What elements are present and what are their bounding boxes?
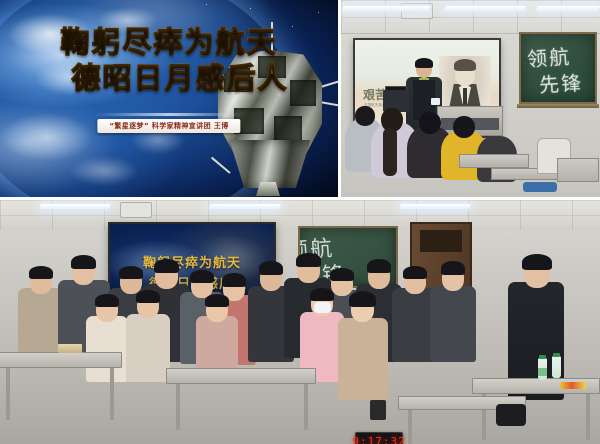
person-hair	[29, 266, 53, 279]
tube-light	[536, 6, 600, 11]
tube-light	[342, 6, 430, 11]
portrait-hair	[454, 59, 476, 71]
person-hair	[222, 273, 246, 287]
person-hair	[95, 294, 119, 307]
headline-line-1: 鞠躬尽瘁为航天	[0, 26, 338, 58]
headline-line-2: 德昭日月感后人	[0, 62, 338, 94]
door-window	[420, 230, 462, 252]
desk-leg	[408, 410, 412, 444]
person-hair	[119, 266, 143, 279]
desk-leg	[586, 394, 590, 440]
person-hair	[136, 290, 160, 303]
audience-head	[453, 116, 475, 138]
person-hair	[522, 254, 552, 270]
person-hair	[330, 268, 354, 281]
person-hair	[367, 259, 391, 273]
digital-clock: 9:17:32	[355, 432, 403, 444]
chalk-text-line-2: 先锋	[538, 67, 583, 98]
book-on-desk	[58, 344, 82, 353]
satellite-facet	[274, 116, 302, 142]
audience-ponytail	[383, 128, 397, 176]
person-hair	[441, 261, 465, 275]
tube-light	[209, 204, 281, 209]
person-hair	[154, 259, 179, 273]
ceiling-tile-grid	[341, 0, 600, 33]
person-hair	[349, 291, 376, 307]
blackboard: 领航 先锋	[519, 32, 597, 104]
subtitle-rule	[95, 113, 243, 116]
water-bottle	[552, 356, 561, 378]
snack-package	[560, 382, 586, 389]
photo-collage: 鞠躬尽瘁为航天 德昭日月感后人 “繁星逐梦” 科学家精神宣讲团 王博 艰苦	[0, 0, 600, 444]
tube-light	[399, 204, 471, 209]
panel-divider-horizontal	[0, 197, 600, 200]
ceiling-vent-icon	[120, 202, 152, 218]
face-mask	[314, 302, 331, 313]
cloud-swirl	[56, 150, 152, 192]
foreground-desk	[0, 352, 122, 368]
person-coat	[126, 314, 170, 382]
person-hair	[310, 288, 334, 301]
bottle-label	[538, 368, 547, 376]
desk-leg	[176, 384, 180, 430]
bottle-cap	[553, 353, 560, 357]
person-hair	[205, 294, 229, 307]
classroom-desk	[557, 158, 599, 182]
audience-head	[419, 112, 441, 134]
portrait-tie	[463, 88, 467, 104]
desk-leg	[304, 384, 308, 430]
chalk-tray	[517, 104, 599, 108]
speaker-badge	[431, 98, 440, 105]
satellite-antenna-icon	[211, 157, 231, 174]
classroom-chair-blue	[523, 182, 557, 192]
slide-headline: 鞠躬尽瘁为航天 德昭日月感后人	[0, 26, 338, 95]
bottle-cap	[539, 355, 546, 359]
panel-space-slide: 鞠躬尽瘁为航天 德昭日月感后人 “繁星逐梦” 科学家精神宣讲团 王博	[0, 0, 338, 197]
desk-leg	[110, 368, 114, 420]
tube-light	[39, 204, 111, 209]
audience-head	[355, 106, 375, 126]
speaker-hair	[415, 58, 433, 68]
person-coat	[338, 318, 388, 400]
star	[318, 12, 319, 13]
tube-light	[444, 6, 526, 11]
wall-speaker-icon	[370, 400, 386, 420]
panel-lecture-photo: 艰苦 中国航天事业奠基人 领航 先锋	[341, 0, 600, 197]
classroom-desk	[459, 154, 529, 168]
person-coat	[430, 286, 476, 362]
person-hair	[403, 266, 427, 279]
star	[206, 4, 207, 5]
person-hair	[259, 261, 283, 275]
slide-subtitle: “繁星逐梦” 科学家精神宣讲团 王博	[97, 119, 240, 133]
clock-time: 9:17:32	[352, 435, 405, 444]
panel-group-photo: 鞠躬尽瘁为航天 德昭日月感后人 领航 先锋 9:17:32	[0, 200, 600, 444]
desk-leg	[6, 368, 10, 420]
star	[250, 8, 251, 9]
person-coat	[86, 316, 128, 382]
person-hair	[296, 253, 321, 267]
satellite-skirt	[224, 140, 316, 188]
person-hair	[190, 270, 214, 283]
backpack	[496, 404, 526, 426]
person-hair	[71, 255, 96, 269]
panel-divider-vertical	[338, 0, 341, 197]
foreground-desk	[166, 368, 316, 384]
